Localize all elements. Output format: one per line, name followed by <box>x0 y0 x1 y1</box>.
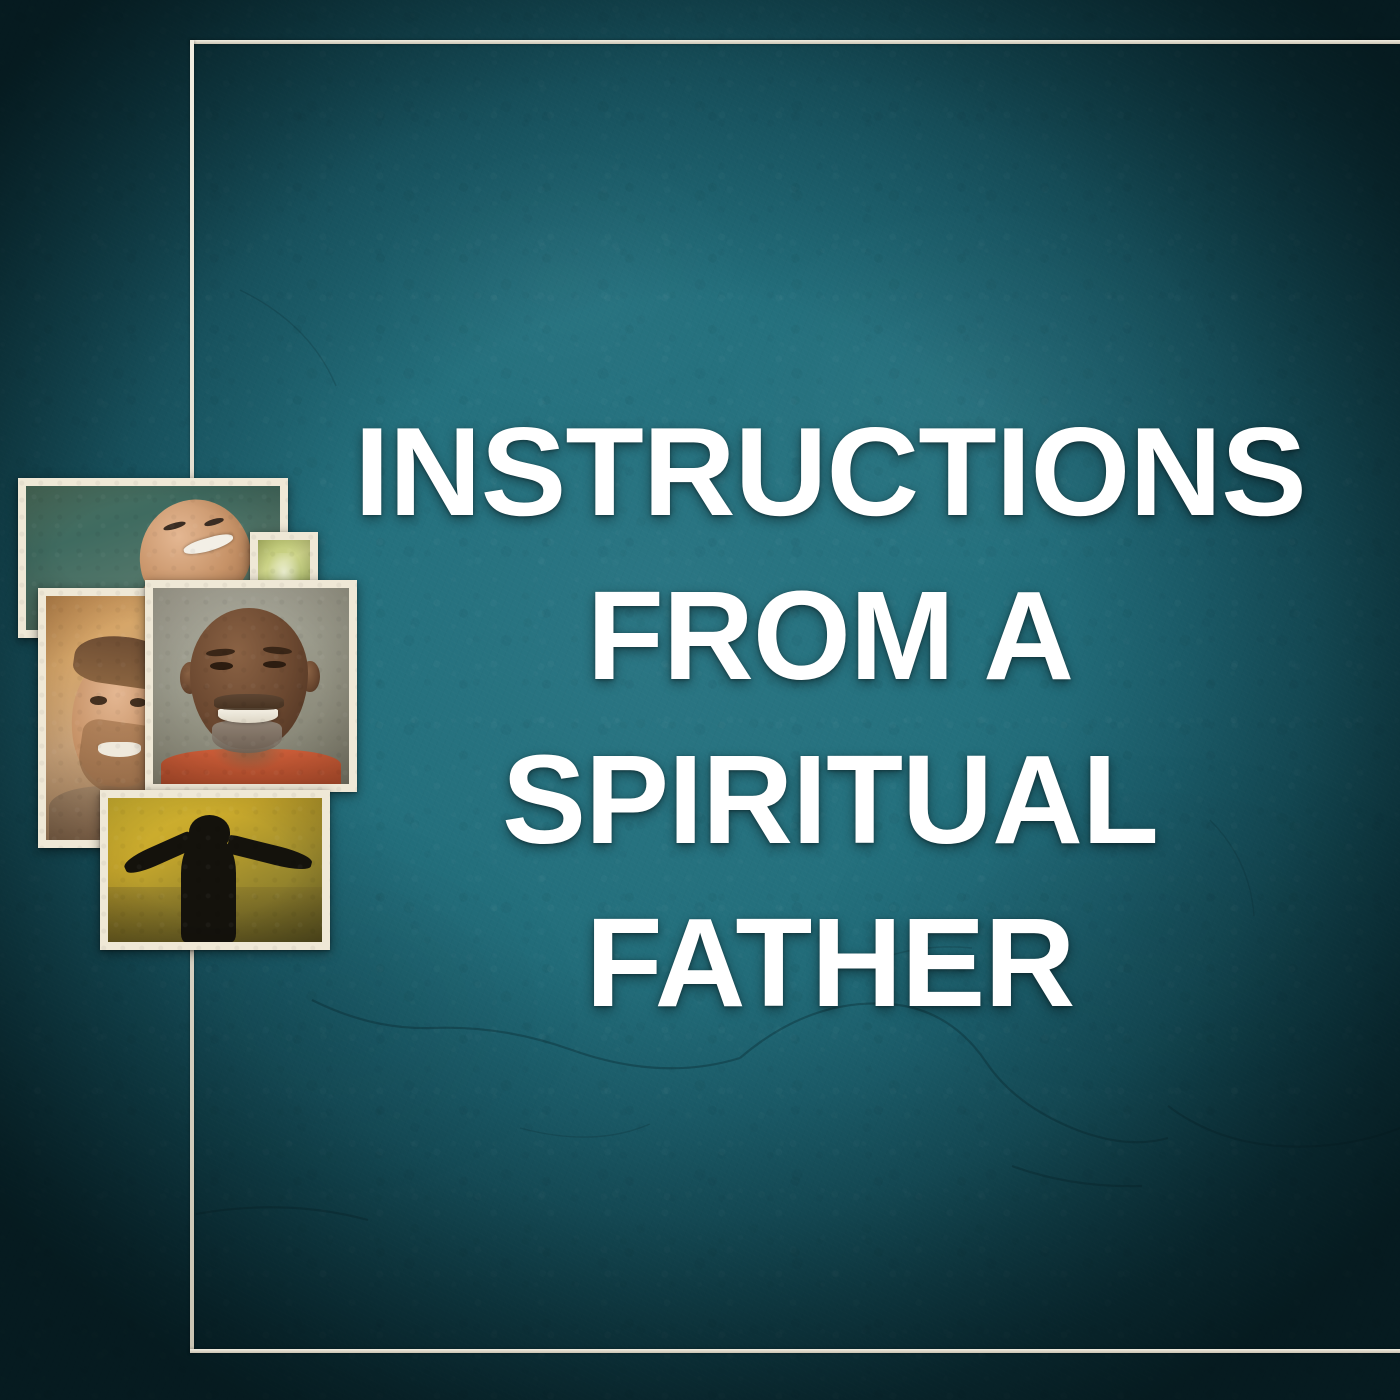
title-line-3: SPIRITUAL <box>330 718 1330 882</box>
title-line-2: FROM A <box>330 554 1330 718</box>
cover-artwork: INSTRUCTIONS FROM A SPIRITUAL FATHER <box>0 0 1400 1400</box>
cover-title: INSTRUCTIONS FROM A SPIRITUAL FATHER <box>330 390 1330 1045</box>
photo-silhouette-arms-open <box>100 790 330 950</box>
frame-rule-top <box>190 40 1400 44</box>
title-line-4: FATHER <box>330 881 1330 1045</box>
photo-smiling-older-man <box>145 580 357 792</box>
title-line-1: INSTRUCTIONS <box>320 390 1340 554</box>
frame-rule-bottom <box>190 1349 1400 1353</box>
